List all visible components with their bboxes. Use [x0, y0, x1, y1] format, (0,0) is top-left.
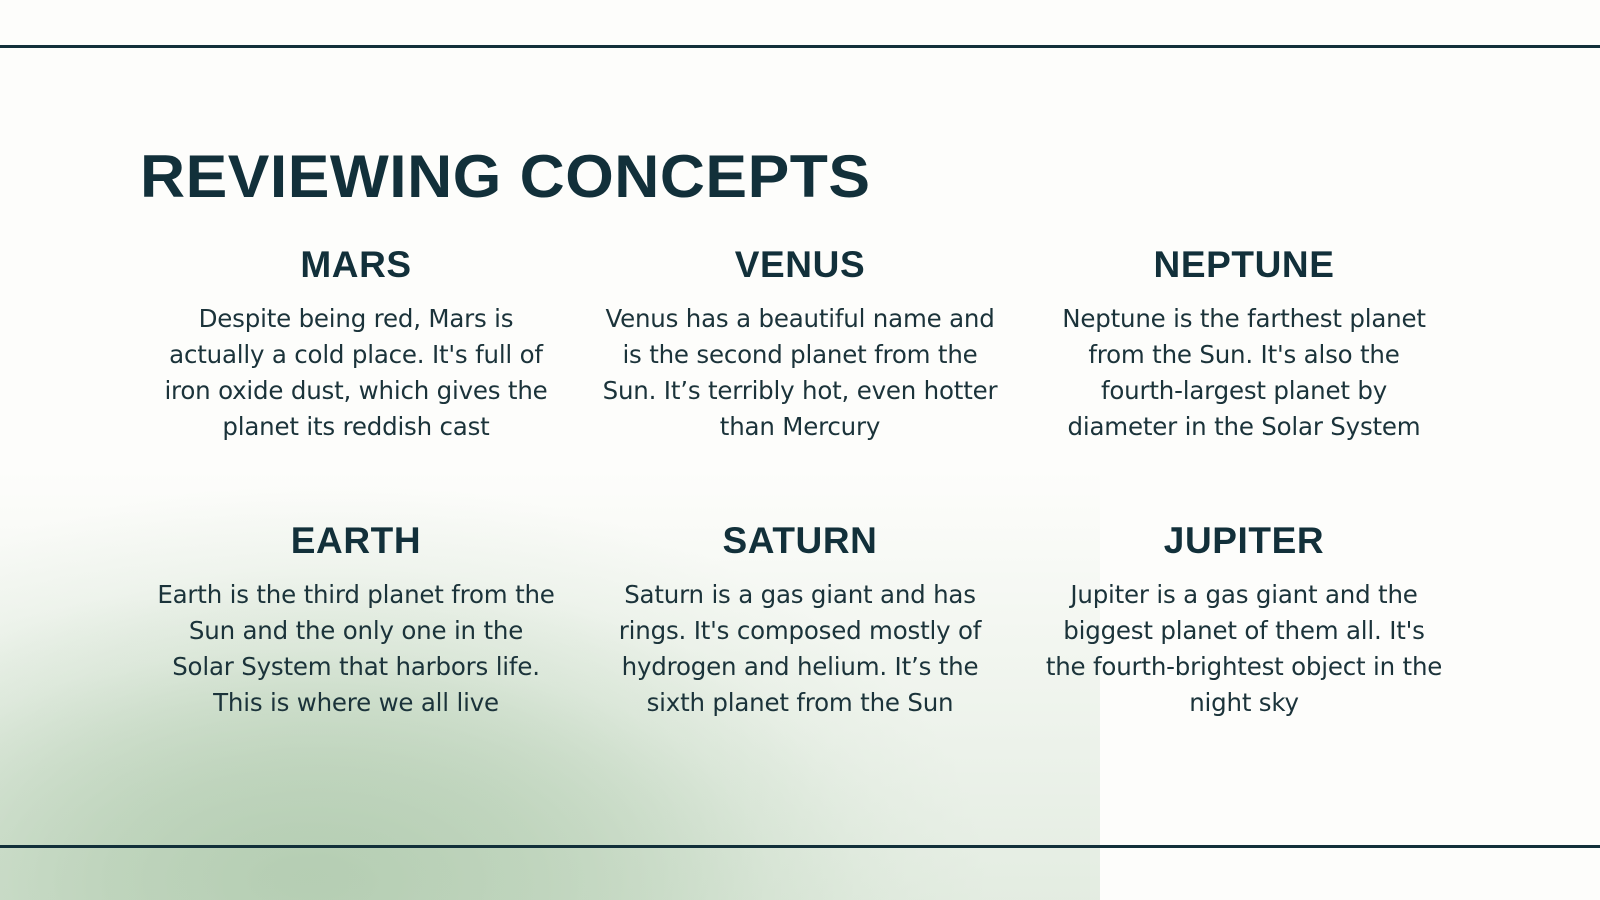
card-title-mars: MARS: [156, 243, 556, 287]
card-title-earth: EARTH: [156, 519, 556, 563]
planet-card-mars: MARS Despite being red, Mars is actually…: [156, 243, 556, 445]
card-title-venus: VENUS: [600, 243, 1000, 287]
card-title-neptune: NEPTUNE: [1044, 243, 1444, 287]
card-body-mars: Despite being red, Mars is actually a co…: [156, 301, 556, 445]
card-body-earth: Earth is the third planet from the Sun a…: [156, 577, 556, 721]
card-title-jupiter: JUPITER: [1044, 519, 1444, 563]
planet-card-neptune: NEPTUNE Neptune is the farthest planet f…: [1044, 243, 1444, 445]
planet-card-earth: EARTH Earth is the third planet from the…: [156, 519, 556, 721]
card-body-saturn: Saturn is a gas giant and has rings. It'…: [600, 577, 1000, 721]
bottom-divider-rule: [0, 845, 1600, 848]
planet-card-jupiter: JUPITER Jupiter is a gas giant and the b…: [1044, 519, 1444, 721]
planet-card-saturn: SATURN Saturn is a gas giant and has rin…: [600, 519, 1000, 721]
card-title-saturn: SATURN: [600, 519, 1000, 563]
slide-canvas: REVIEWING CONCEPTS MARS Despite being re…: [0, 0, 1600, 900]
planet-card-grid: MARS Despite being red, Mars is actually…: [134, 243, 1466, 721]
page-title: REVIEWING CONCEPTS: [140, 144, 871, 210]
top-divider-rule: [0, 45, 1600, 48]
card-body-jupiter: Jupiter is a gas giant and the biggest p…: [1044, 577, 1444, 721]
card-body-neptune: Neptune is the farthest planet from the …: [1044, 301, 1444, 445]
planet-card-venus: VENUS Venus has a beautiful name and is …: [600, 243, 1000, 445]
card-body-venus: Venus has a beautiful name and is the se…: [600, 301, 1000, 445]
